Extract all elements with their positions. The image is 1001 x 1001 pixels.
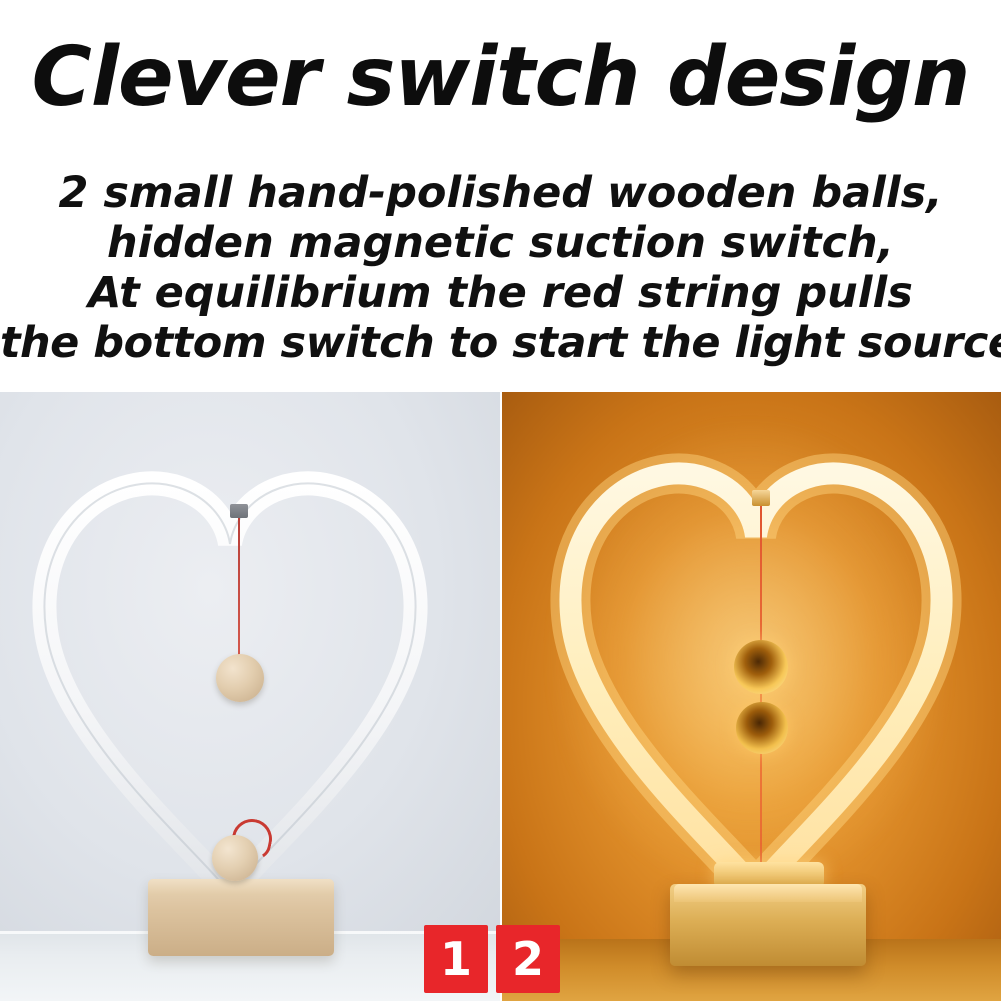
photo-number-badges: 1 2 — [424, 925, 576, 1001]
product-photo-on — [500, 392, 1001, 1001]
subheadline-line-4: the bottom switch to start the light sou… — [0, 318, 1001, 368]
scene-on — [500, 392, 1001, 1001]
text-banner: Clever switch design 2 small hand-polish… — [0, 0, 1001, 392]
photo-divider — [500, 392, 502, 1001]
scene-off — [0, 392, 500, 1001]
subheadline: 2 small hand-polished wooden balls, hidd… — [0, 168, 1001, 368]
wooden-base-on — [670, 884, 866, 966]
subheadline-line-1: 2 small hand-polished wooden balls, — [0, 168, 1001, 218]
badge-2: 2 — [496, 925, 560, 993]
product-photo-off — [0, 392, 500, 1001]
resting-wooden-ball-off — [212, 835, 258, 881]
red-string-off — [238, 518, 240, 666]
badge-1: 1 — [424, 925, 488, 993]
red-string-on — [760, 506, 762, 896]
lower-wooden-ball-on — [736, 702, 788, 754]
magnet-rod-on — [752, 490, 770, 506]
headline: Clever switch design — [0, 36, 1001, 120]
product-infographic: Clever switch design 2 small hand-polish… — [0, 0, 1001, 1001]
subheadline-line-3: At equilibrium the red string pulls — [0, 268, 1001, 318]
upper-wooden-ball-on — [734, 640, 788, 694]
subheadline-line-2: hidden magnetic suction switch, — [0, 218, 1001, 268]
hanging-wooden-ball-off — [216, 654, 264, 702]
magnet-rod-off — [230, 504, 248, 518]
wooden-base-off — [148, 879, 334, 956]
